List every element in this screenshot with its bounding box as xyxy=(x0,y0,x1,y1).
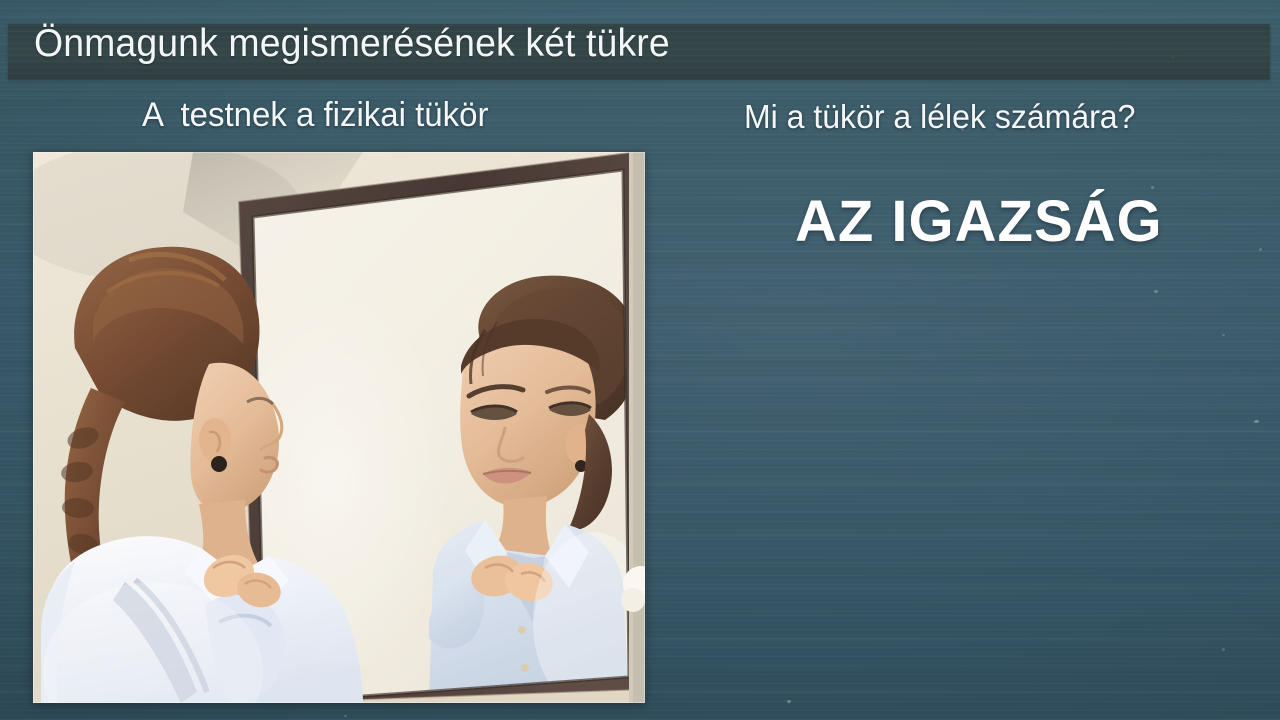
right-column-question: Mi a tükör a lélek számára? xyxy=(744,98,1135,136)
page-title: Önmagunk megismerésének két tükre xyxy=(34,22,670,66)
left-column-heading: A testnek a fizikai tükör xyxy=(142,96,488,135)
right-column-answer: AZ IGAZSÁG xyxy=(795,188,1163,255)
woman-at-mirror-photo xyxy=(33,152,645,703)
presentation-slide: Önmagunk megismerésének két tükre A test… xyxy=(0,0,1280,720)
photo-artwork xyxy=(33,152,645,703)
